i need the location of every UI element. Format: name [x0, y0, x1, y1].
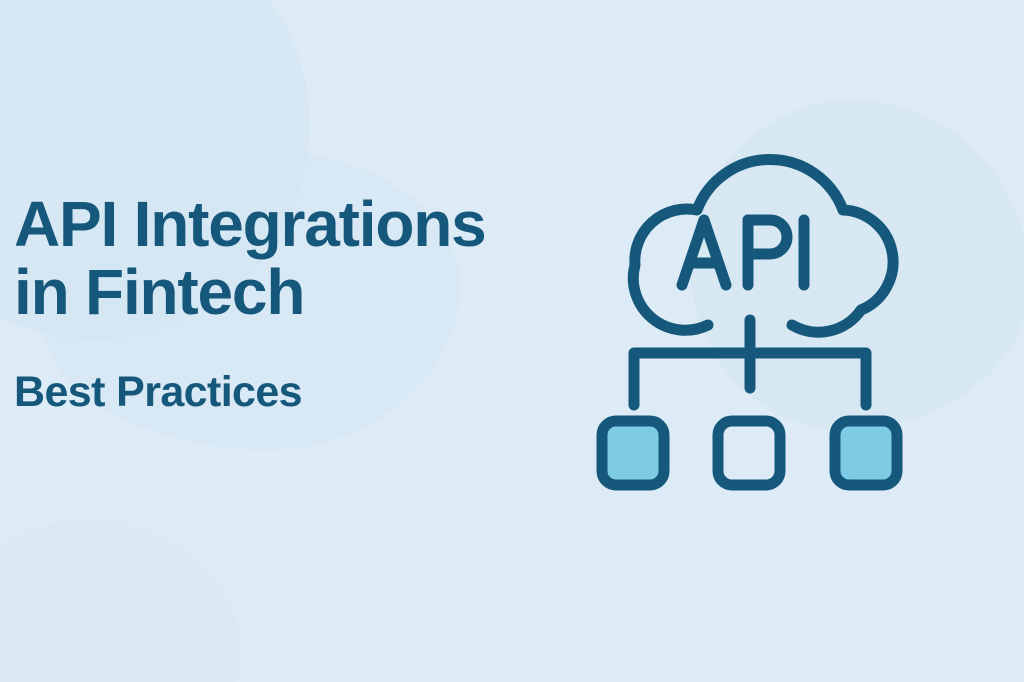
background-blob-bottom-left [0, 520, 240, 682]
node-right [835, 421, 897, 485]
cloud-letter-a-icon [682, 220, 726, 285]
poster-canvas: API Integrations in Fintech Best Practic… [0, 0, 1024, 682]
page-title: API Integrations in Fintech [14, 190, 614, 327]
cloud-letter-p-bowl-icon [748, 220, 787, 254]
page-subtitle: Best Practices [14, 327, 614, 416]
node-middle [718, 421, 780, 485]
api-cloud-diagram-icon [580, 105, 920, 505]
cloud-outline-icon [633, 159, 893, 332]
node-left [602, 421, 664, 485]
title-block: API Integrations in Fintech Best Practic… [14, 190, 614, 416]
api-cloud-diagram-svg [580, 105, 920, 505]
